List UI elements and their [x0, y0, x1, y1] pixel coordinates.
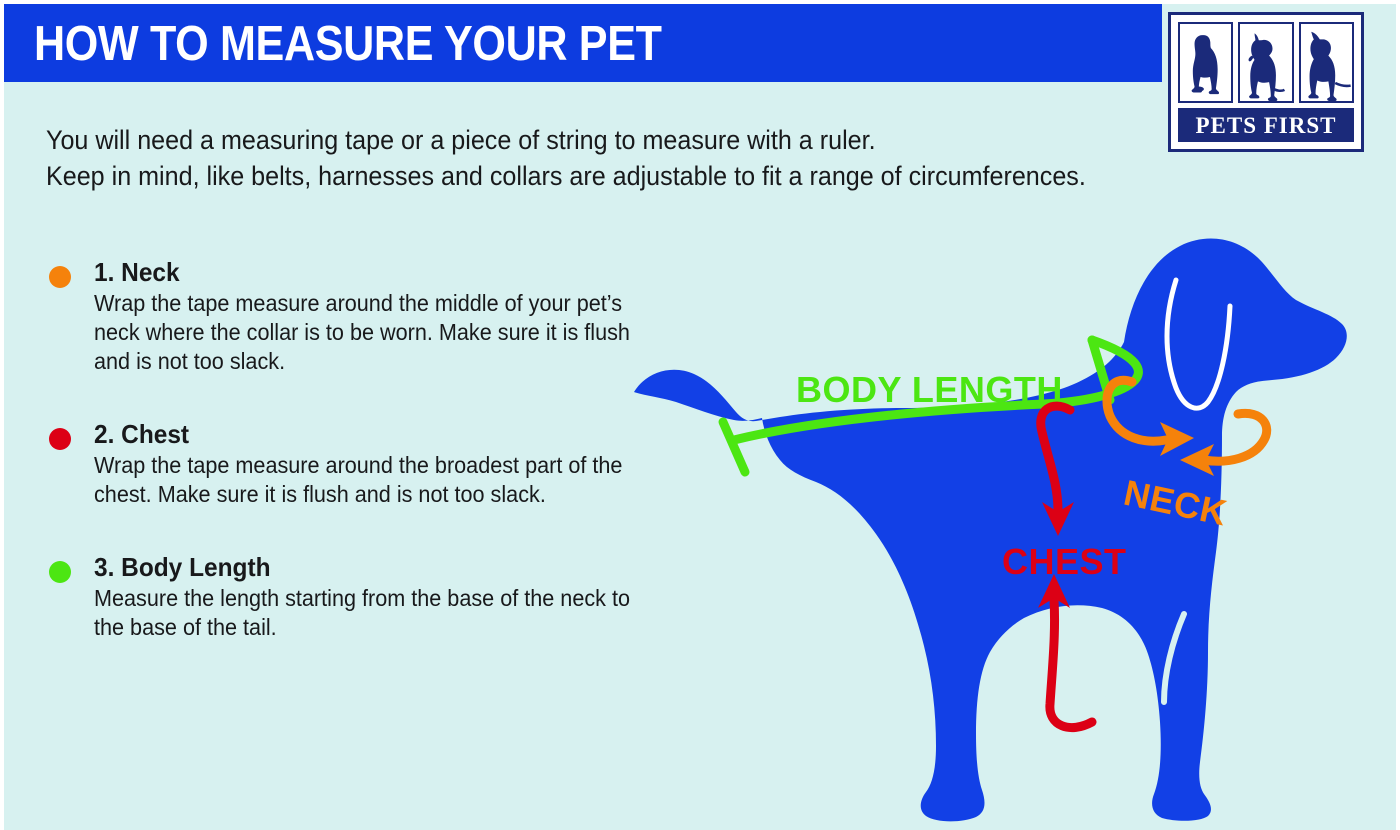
step-chest: 2. Chest Wrap the tape measure around th…	[46, 418, 646, 509]
intro-text: You will need a measuring tape or a piec…	[46, 122, 1166, 194]
label-chest: CHEST	[1002, 541, 1127, 582]
step-body-length-title: 3. Body Length	[94, 551, 613, 583]
step-chest-body: Wrap the tape measure around the broades…	[94, 451, 639, 509]
brand-logo: PETS FIRST	[1168, 12, 1364, 152]
logo-dog-row	[1178, 22, 1354, 103]
page-title: HOW TO MEASURE YOUR PET	[34, 18, 662, 70]
howling-dog-icon	[1238, 22, 1293, 103]
bullet-chest	[49, 428, 71, 450]
step-body-length: 3. Body Length Measure the length starti…	[46, 551, 646, 642]
bullet-body-length	[49, 561, 71, 583]
sitting-dog-icon	[1178, 22, 1233, 103]
intro-line-2: Keep in mind, like belts, harnesses and …	[46, 158, 1088, 194]
intro-line-1: You will need a measuring tape or a piec…	[46, 122, 1088, 158]
dog-silhouette-icon	[634, 239, 1347, 822]
logo-inner: PETS FIRST	[1178, 22, 1354, 142]
label-body-length: BODY LENGTH	[796, 369, 1063, 410]
logo-wordmark: PETS FIRST	[1178, 108, 1354, 142]
step-neck: 1. Neck Wrap the tape measure around the…	[46, 256, 646, 376]
logo-wordmark-text: PETS FIRST	[1195, 114, 1336, 137]
steps-list: 1. Neck Wrap the tape measure around the…	[46, 256, 646, 680]
step-body-length-body: Measure the length starting from the bas…	[94, 584, 639, 642]
bullet-neck	[49, 266, 71, 288]
infographic-page: HOW TO MEASURE YOUR PET	[0, 0, 1400, 830]
step-neck-body: Wrap the tape measure around the middle …	[94, 289, 639, 376]
step-neck-title: 1. Neck	[94, 256, 613, 288]
step-chest-title: 2. Chest	[94, 418, 613, 450]
header-bar: HOW TO MEASURE YOUR PET	[4, 4, 1162, 82]
dog-measurement-diagram: BODY LENGTH NECK CHEST	[624, 222, 1400, 830]
alert-dog-icon	[1299, 22, 1354, 103]
